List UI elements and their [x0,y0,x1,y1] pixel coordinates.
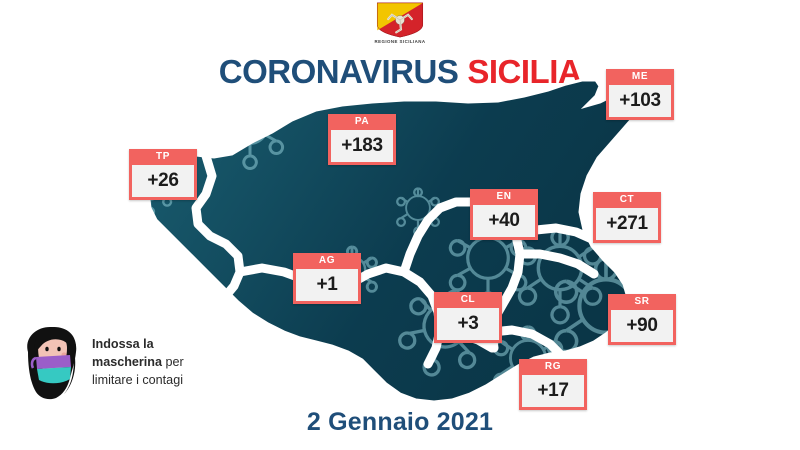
logo-caption: REGIONE SICILIANA [371,39,429,44]
psa-line3: limitare i contagi [92,373,183,387]
province-code-pa: PA [328,114,396,130]
province-value-rg: +17 [519,375,587,410]
date-label: 2 Gennaio 2021 [0,408,800,437]
province-box-sr[interactable]: SR +90 [608,294,676,345]
province-box-tp[interactable]: TP +26 [129,149,197,200]
province-value-sr: +90 [608,310,676,345]
province-code-me: ME [606,69,674,85]
psa-line1: Indossa la [92,337,154,351]
province-value-pa: +183 [328,130,396,165]
province-value-en: +40 [470,205,538,240]
mask-psa: Indossa la mascherina per limitare i con… [14,322,229,404]
infographic-canvas: REGIONE SICILIANA CORONAVIRUSSICILIA [0,0,800,450]
psa-line2-bold: mascherina [92,355,162,369]
province-value-ag: +1 [293,269,361,304]
province-box-me[interactable]: ME +103 [606,69,674,120]
province-code-tp: TP [129,149,197,165]
province-value-me: +103 [606,85,674,120]
province-box-cl[interactable]: CL +3 [434,292,502,343]
province-code-cl: CL [434,292,502,308]
province-code-ct: CT [593,192,661,208]
province-box-rg[interactable]: RG +17 [519,359,587,410]
province-box-ag[interactable]: AG +1 [293,253,361,304]
province-value-cl: +3 [434,308,502,343]
woman-wearing-mask-illustration [14,322,88,402]
mask-psa-text: Indossa la mascherina per limitare i con… [92,336,232,390]
province-box-en[interactable]: EN +40 [470,189,538,240]
province-code-en: EN [470,189,538,205]
regione-siciliana-logo: REGIONE SICILIANA [371,2,429,50]
province-code-ag: AG [293,253,361,269]
province-code-rg: RG [519,359,587,375]
province-value-ct: +271 [593,208,661,243]
trinacria-shield-icon [376,2,424,38]
province-value-tp: +26 [129,165,197,200]
province-code-sr: SR [608,294,676,310]
psa-line2-rest: per [162,355,184,369]
province-box-ct[interactable]: CT +271 [593,192,661,243]
province-box-pa[interactable]: PA +183 [328,114,396,165]
